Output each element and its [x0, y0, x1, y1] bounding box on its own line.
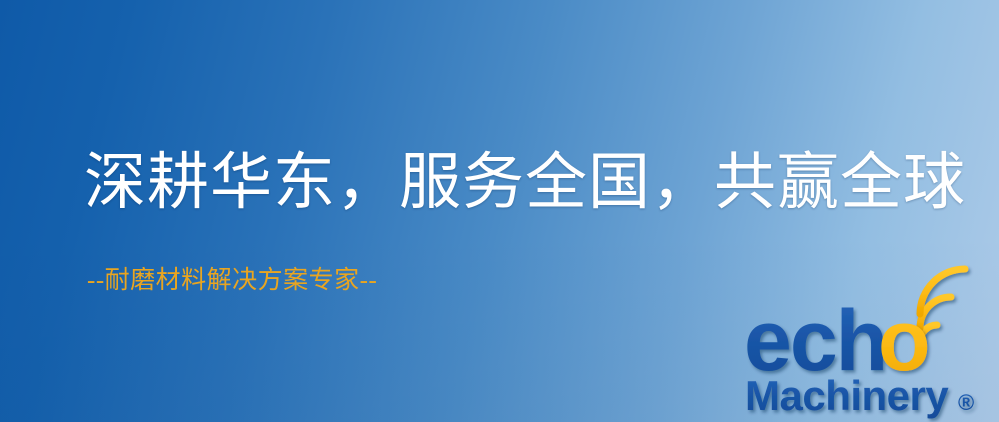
logo-machinery-text: Machinery [745, 372, 949, 419]
banner-headline: 深耕华东，服务全国，共赢全球 [84, 152, 966, 214]
echo-machinery-logo[interactable]: ech o Machinery ® [744, 292, 994, 420]
banner-subtitle: --耐磨材料解决方案专家-- [87, 268, 377, 293]
hero-banner: 深耕华东，服务全国，共赢全球 --耐磨材料解决方案专家-- [0, 0, 999, 422]
logo-registered-mark: ® [958, 390, 974, 415]
